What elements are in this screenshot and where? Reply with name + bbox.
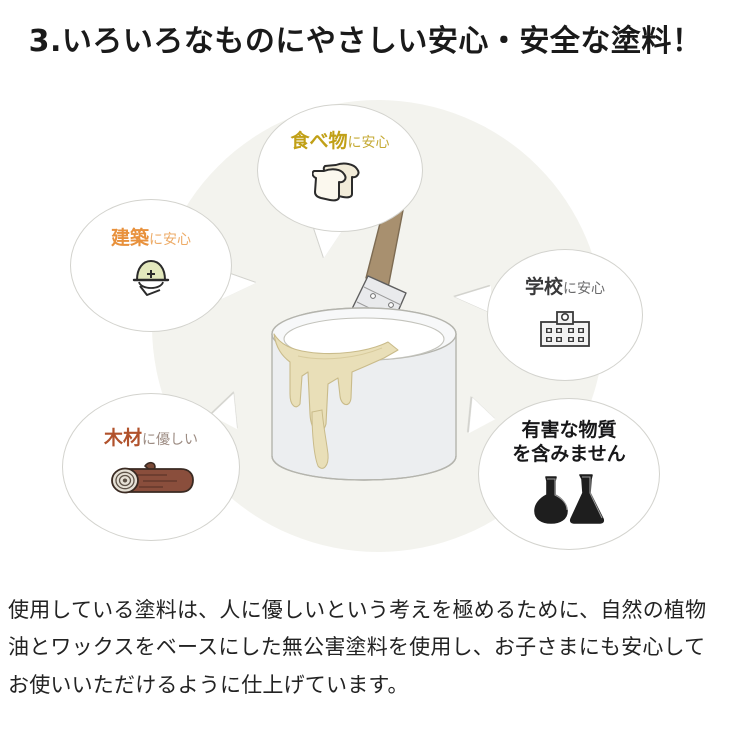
bubble-food-label-sub: に安心 xyxy=(348,135,390,151)
diagram-area: 食べ物に安心 建築に安心 xyxy=(0,86,731,586)
body-paragraph: 使用している塗料は、人に優しいという考えを極めるために、自然の植物油とワックスを… xyxy=(8,592,724,704)
bubble-school-label-sub: に安心 xyxy=(563,281,605,297)
bubble-food[interactable]: 食べ物に安心 xyxy=(257,104,423,232)
bubble-wood-text: 木材に優しい xyxy=(104,427,198,451)
bubble-food-label-main: 食べ物 xyxy=(290,130,347,152)
bubble-architecture-label-main: 建築 xyxy=(111,227,149,249)
bubble-architecture-label-sub: に安心 xyxy=(149,232,191,248)
bubble-school[interactable]: 学校に安心 xyxy=(487,249,643,381)
flask-and-beaker-icon xyxy=(533,473,605,529)
page-root: 3.いろいろなものにやさしい安心・安全な塗料！ xyxy=(0,0,731,740)
wood-log-icon xyxy=(105,457,197,507)
school-building-icon xyxy=(537,306,593,354)
bubble-school-text: 学校に安心 xyxy=(525,276,605,300)
hard-hat-icon xyxy=(127,256,175,304)
bubble-toxic[interactable]: 有害な物質 を含みません xyxy=(478,398,660,550)
bubble-toxic-line2: を含みません xyxy=(512,443,625,467)
bubble-architecture[interactable]: 建築に安心 xyxy=(70,199,232,332)
bubble-wood-label-sub: に優しい xyxy=(142,432,198,448)
bubble-toxic-line1: 有害な物質 xyxy=(521,419,616,443)
bubble-architecture-text: 建築に安心 xyxy=(111,227,191,251)
bubble-food-text: 食べ物に安心 xyxy=(290,130,389,154)
page-title: 3.いろいろなものにやさしい安心・安全な塗料！ xyxy=(0,24,731,60)
bubble-wood[interactable]: 木材に優しい xyxy=(62,393,240,541)
bubble-school-label-main: 学校 xyxy=(525,276,563,298)
bubble-wood-label-main: 木材 xyxy=(104,427,142,449)
bread-slices-icon xyxy=(312,160,368,206)
